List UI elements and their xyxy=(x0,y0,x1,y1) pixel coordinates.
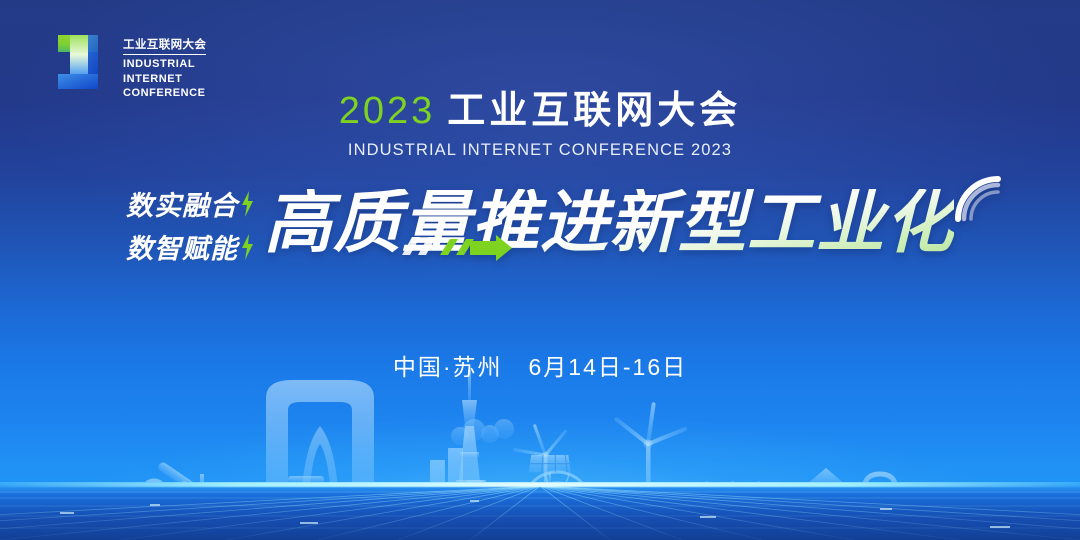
title-cn: 工业互联网大会 xyxy=(447,90,741,132)
signal-waves-icon xyxy=(950,171,1002,223)
conference-banner: 工业互联网大会 INDUSTRIAL INTERNET CONFERENCE 2… xyxy=(0,0,1080,540)
event-date-range: 6月14日-16日 xyxy=(529,354,688,380)
lightning-bolt-icon xyxy=(241,191,254,217)
slogan-line1-text: 数实融合 xyxy=(126,184,238,223)
event-date-location: 中国·苏州6月14日-16日 xyxy=(0,348,1080,382)
logo-t-mark-icon xyxy=(56,32,114,92)
slogan-line-1: 数实融合 xyxy=(126,184,254,223)
logo-en-line2: INTERNET xyxy=(123,72,206,87)
lightning-bolt-icon xyxy=(241,234,254,260)
progress-arrow-icon xyxy=(400,235,512,261)
headline-main-text: 高质量推进新型工业化 xyxy=(264,185,954,261)
event-location: 中国·苏州 xyxy=(393,354,503,380)
headline-main-text-wrapper: 高质量推进新型工业化 xyxy=(264,189,954,257)
title-english-subtitle: INDUSTRIAL INTERNET CONFERENCE 2023 xyxy=(0,141,1080,160)
slogan-two-line: 数实融合 数智赋能 xyxy=(126,184,254,266)
conference-title-block: 2023工业互联网大会 INDUSTRIAL INTERNET CONFEREN… xyxy=(0,92,1080,160)
slogan-line-2: 数智赋能 xyxy=(126,227,254,266)
slogan-line2-text: 数智赋能 xyxy=(126,227,238,266)
ground-perspective-grid xyxy=(0,482,1080,540)
title-year: 2023 xyxy=(339,90,436,132)
title-main-line: 2023工业互联网大会 xyxy=(0,92,1080,132)
logo-en-line1: INDUSTRIAL xyxy=(123,57,206,72)
logo-cn-name: 工业互联网大会 xyxy=(123,38,206,55)
headline-block: 数实融合 数智赋能 高质量推进新型工业化 xyxy=(0,180,1080,266)
conference-logo: 工业互联网大会 INDUSTRIAL INTERNET CONFERENCE xyxy=(56,32,206,101)
